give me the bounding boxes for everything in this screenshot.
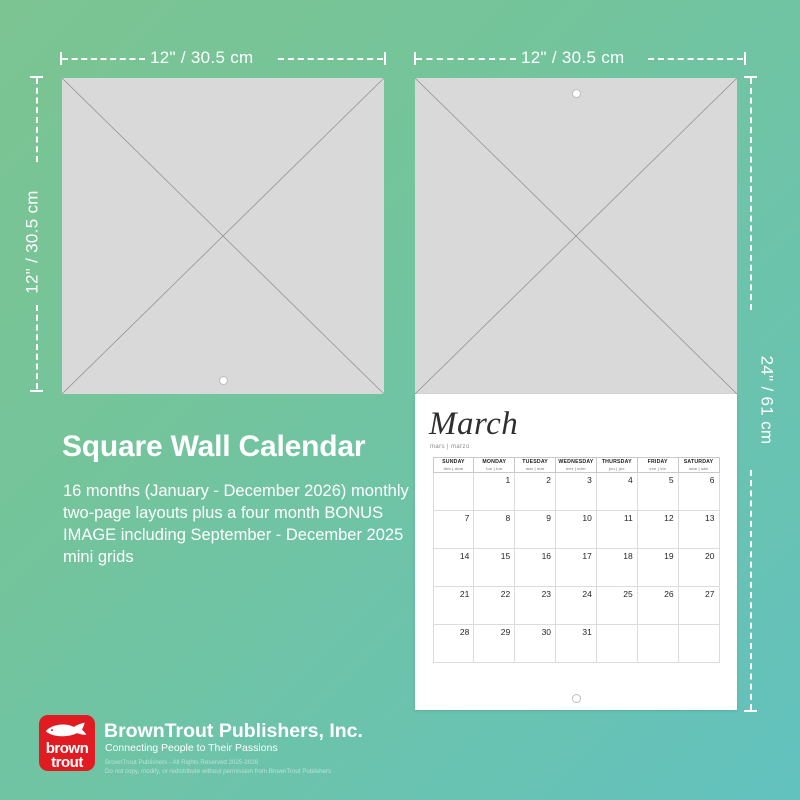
calendar-week-row: 14 15 16 17 18 19 20 — [433, 549, 719, 587]
dimension-line — [750, 78, 752, 310]
day-header-label: FRIDAY — [638, 459, 678, 465]
calendar-day-cell — [596, 625, 637, 663]
calendar-day-cell: 17 — [556, 549, 597, 587]
calendar-day-cell: 16 — [515, 549, 556, 587]
calendar-week-row: 1 2 3 4 5 6 — [433, 473, 719, 511]
calendar-day-cell: 7 — [433, 511, 474, 549]
day-header-sublabel: dim | dom — [434, 466, 474, 471]
dimension-line — [750, 470, 752, 710]
calendar-day-cell — [433, 473, 474, 511]
day-header-sublabel: lun | lun — [474, 466, 514, 471]
calendar-day-cell: 28 — [433, 625, 474, 663]
calendar-day-cell: 26 — [637, 587, 678, 625]
calendar-day-cell: 19 — [637, 549, 678, 587]
day-header-thursday: THURSDAY jeu | jue — [596, 458, 637, 473]
day-header-sublabel: mer | miér — [556, 466, 596, 471]
calendar-day-cell — [678, 625, 719, 663]
brand-tagline: Connecting People to Their Passions — [105, 742, 278, 754]
calendar-day-cell: 2 — [515, 473, 556, 511]
dimension-line — [62, 58, 145, 60]
calendar-day-cell: 20 — [678, 549, 719, 587]
calendar-month-title: March — [415, 394, 737, 441]
calendar-day-cell: 22 — [474, 587, 515, 625]
brandtrout-logo: brown trout — [39, 715, 95, 771]
calendar-day-cell: 13 — [678, 511, 719, 549]
day-header-label: THURSDAY — [597, 459, 637, 465]
calendar-day-cell: 21 — [433, 587, 474, 625]
right-height-label: 24" / 61 cm — [756, 356, 776, 445]
day-header-sunday: SUNDAY dim | dom — [433, 458, 474, 473]
calendar-week-row: 28 29 30 31 — [433, 625, 719, 663]
hanging-hole — [219, 376, 228, 385]
calendar-grid: SUNDAY dim | dom MONDAY lun | lun TUESDA… — [433, 457, 720, 663]
dimension-cap — [30, 390, 43, 392]
dimension-line — [416, 58, 516, 60]
calendar-day-cell: 10 — [556, 511, 597, 549]
calendar-day-cell: 23 — [515, 587, 556, 625]
calendar-page: March mars | marzo SUNDAY dim | dom MOND… — [415, 394, 737, 710]
legal-line-2: Do not copy, modify, or redistribute wit… — [105, 768, 331, 777]
product-description: 16 months (January - December 2026) mont… — [63, 481, 413, 569]
day-header-saturday: SATURDAY sam | sáb — [678, 458, 719, 473]
placeholder-cross-icon — [62, 78, 384, 394]
day-header-sublabel: jeu | jue — [597, 466, 637, 471]
right-width-label: 12" / 30.5 cm — [521, 48, 624, 68]
calendar-day-cell: 6 — [678, 473, 719, 511]
day-header-label: WEDNESDAY — [556, 459, 596, 465]
day-header-label: SATURDAY — [679, 459, 719, 465]
calendar-day-cell: 14 — [433, 549, 474, 587]
day-header-sublabel: mar | mar — [515, 466, 555, 471]
day-header-tuesday: TUESDAY mar | mar — [515, 458, 556, 473]
dimension-line — [648, 58, 743, 60]
calendar-week-row: 7 8 9 10 11 12 13 — [433, 511, 719, 549]
day-header-label: TUESDAY — [515, 459, 555, 465]
calendar-day-cell: 30 — [515, 625, 556, 663]
calendar-header-row: SUNDAY dim | dom MONDAY lun | lun TUESDA… — [433, 458, 719, 473]
day-header-label: MONDAY — [474, 459, 514, 465]
trout-fish-icon — [42, 719, 92, 742]
calendar-day-cell: 29 — [474, 625, 515, 663]
calendar-month-subtitle: mars | marzo — [415, 441, 737, 450]
calendar-day-cell: 31 — [556, 625, 597, 663]
calendar-day-cell: 12 — [637, 511, 678, 549]
calendar-day-cell: 8 — [474, 511, 515, 549]
left-cover-panel — [62, 78, 384, 394]
page-title: Square Wall Calendar — [62, 430, 365, 464]
calendar-day-cell: 27 — [678, 587, 719, 625]
calendar-week-row: 21 22 23 24 25 26 27 — [433, 587, 719, 625]
logo-word-trout: trout — [39, 755, 95, 770]
day-header-sublabel: sam | sáb — [679, 466, 719, 471]
day-header-wednesday: WEDNESDAY mer | miér — [556, 458, 597, 473]
calendar-day-cell: 5 — [637, 473, 678, 511]
hanging-hole — [572, 694, 581, 703]
calendar-day-cell: 1 — [474, 473, 515, 511]
legal-line-1: BrownTrout Publishers - All Rights Reser… — [105, 759, 258, 768]
left-height-label: 12" / 30.5 cm — [23, 190, 43, 293]
day-header-label: SUNDAY — [434, 459, 474, 465]
dimension-line — [36, 78, 38, 162]
left-width-label: 12" / 30.5 cm — [150, 48, 253, 68]
calendar-day-cell: 18 — [596, 549, 637, 587]
placeholder-cross-icon — [415, 78, 737, 394]
dimension-cap — [744, 52, 746, 65]
calendar-day-cell: 24 — [556, 587, 597, 625]
calendar-day-cell: 3 — [556, 473, 597, 511]
right-cover-panel — [415, 78, 737, 394]
day-header-monday: MONDAY lun | lun — [474, 458, 515, 473]
dimension-cap — [744, 710, 757, 712]
dimension-line — [36, 305, 38, 389]
calendar-day-cell: 9 — [515, 511, 556, 549]
day-header-sublabel: ven | vie — [638, 466, 678, 471]
day-header-friday: FRIDAY ven | vie — [637, 458, 678, 473]
brand-name: BrownTrout Publishers, Inc. — [104, 720, 363, 743]
hanging-hole — [572, 89, 581, 98]
calendar-day-cell — [637, 625, 678, 663]
calendar-day-cell: 11 — [596, 511, 637, 549]
calendar-day-cell: 15 — [474, 549, 515, 587]
calendar-day-cell: 25 — [596, 587, 637, 625]
calendar-day-cell: 4 — [596, 473, 637, 511]
dimension-line — [278, 58, 383, 60]
dimension-cap — [384, 52, 386, 65]
